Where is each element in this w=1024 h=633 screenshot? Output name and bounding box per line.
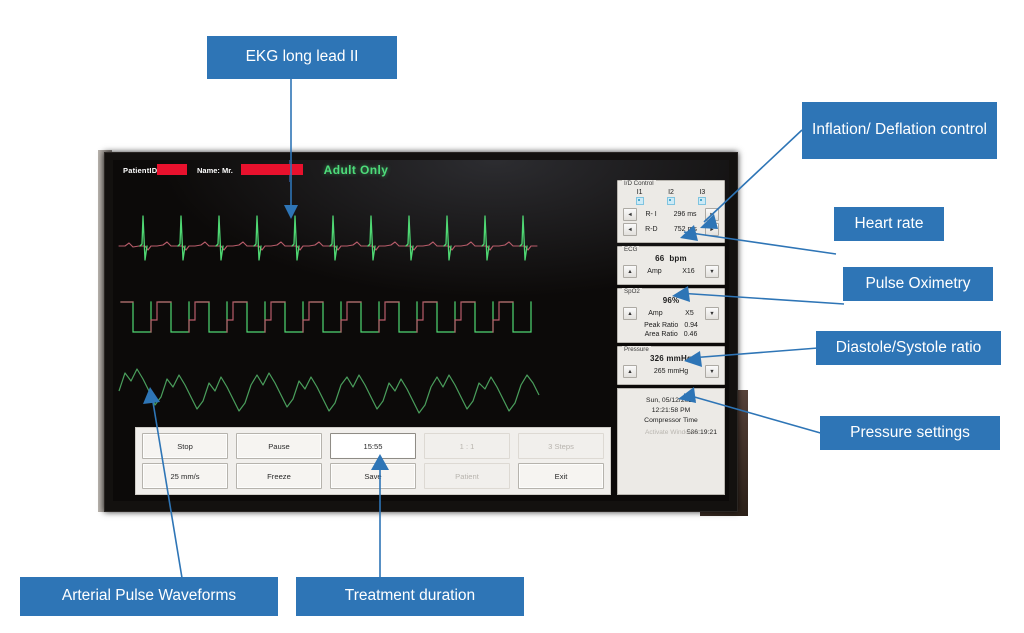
button-row-1: Stop Pause 15:55 1 : 1 3 Steps xyxy=(142,433,604,459)
r-i-value: 296 ms xyxy=(674,211,697,218)
r-d-value: 752 ms xyxy=(674,226,697,233)
checkbox-i2[interactable] xyxy=(667,197,675,205)
screenshot-root: PatientID: Name: Mr. Adult Only xyxy=(0,0,1024,633)
heart-rate-value: 66 xyxy=(655,254,664,263)
sweep-speed-button[interactable]: 25 mm/s xyxy=(142,463,228,489)
compressor-time-label: Compressor Time xyxy=(622,417,720,424)
annotation-pulse-oximetry: Pulse Oximetry xyxy=(843,267,993,301)
exit-button[interactable]: Exit xyxy=(518,463,604,489)
treatment-duration-button[interactable]: 15:55 xyxy=(330,433,416,459)
area-ratio-label: Area Ratio xyxy=(645,331,678,338)
waveform-inflation-deflation xyxy=(117,290,541,350)
id-channel-labels: I1 I2 I3 xyxy=(624,189,718,196)
button-bar: Stop Pause 15:55 1 : 1 3 Steps 25 mm/s F… xyxy=(135,427,611,495)
screen-header: PatientID: Name: Mr. Adult Only xyxy=(113,160,729,182)
r-i-label: R- I xyxy=(645,211,656,218)
monitor-screen: PatientID: Name: Mr. Adult Only xyxy=(113,160,729,501)
id-control-title: I/D Control xyxy=(622,180,656,187)
annotation-inflation-deflation-control: Inflation/ Deflation control xyxy=(802,102,997,159)
id-channel-indicators xyxy=(624,197,718,205)
row-deflation-delay: ◄ R-D 752 ms ► xyxy=(623,223,719,236)
r-i-decrease-button[interactable]: ◄ xyxy=(623,208,637,221)
r-d-decrease-button[interactable]: ◄ xyxy=(623,223,637,236)
spo2-value: 96% xyxy=(622,296,720,305)
monitor-screen-area: PatientID: Name: Mr. Adult Only xyxy=(113,160,729,501)
row-peak-ratio: Peak Ratio 0.94 xyxy=(622,322,720,329)
row-spo2-amplitude: ▲ Amp X5 ▼ xyxy=(623,307,719,320)
row-area-ratio: Area Ratio 0.46 xyxy=(622,331,720,338)
pressure-title: Pressure xyxy=(622,346,651,353)
panel-spo2: SpO2 96% ▲ Amp X5 ▼ Peak Ratio xyxy=(617,288,725,343)
heart-rate-unit: bpm xyxy=(669,254,687,263)
id-channel-i3: I3 xyxy=(699,189,705,196)
mode-title: Adult Only xyxy=(113,163,729,177)
waveform-area xyxy=(117,182,541,450)
ecg-amp-label: Amp xyxy=(647,268,661,275)
panel-id-control: I/D Control I1 I2 I3 ◄ xyxy=(617,180,725,243)
pressure-up-button[interactable]: ▲ xyxy=(623,365,637,378)
pressure-diastolic-value: 265 mmHg xyxy=(654,368,688,375)
spo2-amp-down-button[interactable]: ▼ xyxy=(705,307,719,320)
annotation-pressure-settings: Pressure settings xyxy=(820,416,1000,450)
annotation-ekg-long-lead-ii: EKG long lead II xyxy=(207,36,397,79)
annotation-arterial-pulse-waveforms: Arterial Pulse Waveforms xyxy=(20,577,278,616)
annotation-diastole-systole-ratio: Diastole/Systole ratio xyxy=(816,331,1001,365)
control-column: I/D Control I1 I2 I3 ◄ xyxy=(617,180,725,495)
stop-button[interactable]: Stop xyxy=(142,433,228,459)
save-button[interactable]: Save xyxy=(330,463,416,489)
annotation-treatment-duration: Treatment duration xyxy=(296,577,524,616)
pressure-systolic-value: 326 mmHg xyxy=(622,354,720,363)
status-date: Sun, 05/12/2024 xyxy=(622,397,720,404)
compressor-time-value: 586:19:21 xyxy=(622,429,720,436)
row-pressure-diastolic: ▲ 265 mmHg ▼ xyxy=(623,365,719,378)
annotation-heart-rate: Heart rate xyxy=(834,207,944,241)
heart-rate-readout: 66 bpm xyxy=(622,254,720,263)
status-time: 12:21:58 PM xyxy=(622,407,720,414)
steps-button[interactable]: 3 Steps xyxy=(518,433,604,459)
pause-button[interactable]: Pause xyxy=(236,433,322,459)
panel-ecg: ECG 66 bpm ▲ Amp X16 ▼ xyxy=(617,246,725,285)
freeze-button[interactable]: Freeze xyxy=(236,463,322,489)
spo2-amp-label: Amp xyxy=(648,310,662,317)
row-inflation-delay: ◄ R- I 296 ms ► xyxy=(623,208,719,221)
ecg-amp-down-button[interactable]: ▼ xyxy=(705,265,719,278)
ecg-amp-up-button[interactable]: ▲ xyxy=(623,265,637,278)
checkbox-i3[interactable] xyxy=(698,197,706,205)
peak-ratio-value: 0.94 xyxy=(684,322,698,329)
pressure-down-button[interactable]: ▼ xyxy=(705,365,719,378)
waveform-arterial-pulse xyxy=(117,357,541,433)
monitor-bezel: PatientID: Name: Mr. Adult Only xyxy=(104,152,738,512)
spo2-amp-up-button[interactable]: ▲ xyxy=(623,307,637,320)
button-row-2: 25 mm/s Freeze Save Patient Exit xyxy=(142,463,604,489)
id-channel-i2: I2 xyxy=(668,189,674,196)
peak-ratio-label: Peak Ratio xyxy=(644,322,678,329)
row-ecg-amplitude: ▲ Amp X16 ▼ xyxy=(623,265,719,278)
r-d-label: R-D xyxy=(645,226,657,233)
checkbox-i1[interactable] xyxy=(636,197,644,205)
patient-button[interactable]: Patient xyxy=(424,463,510,489)
panel-pressure: Pressure 326 mmHg ▲ 265 mmHg ▼ xyxy=(617,346,725,385)
area-ratio-value: 0.46 xyxy=(684,331,698,338)
r-d-increase-button[interactable]: ► xyxy=(705,223,719,236)
spo2-title: SpO2 xyxy=(622,288,642,295)
ecg-title: ECG xyxy=(622,246,639,253)
assist-ratio-button[interactable]: 1 : 1 xyxy=(424,433,510,459)
spo2-amp-value: X5 xyxy=(685,310,694,317)
waveform-ecg-lead-ii xyxy=(117,200,541,278)
ecg-amp-value: X16 xyxy=(682,268,694,275)
panel-status: Sun, 05/12/2024 12:21:58 PM Compressor T… xyxy=(617,388,725,495)
id-channel-i1: I1 xyxy=(637,189,643,196)
r-i-increase-button[interactable]: ► xyxy=(705,208,719,221)
